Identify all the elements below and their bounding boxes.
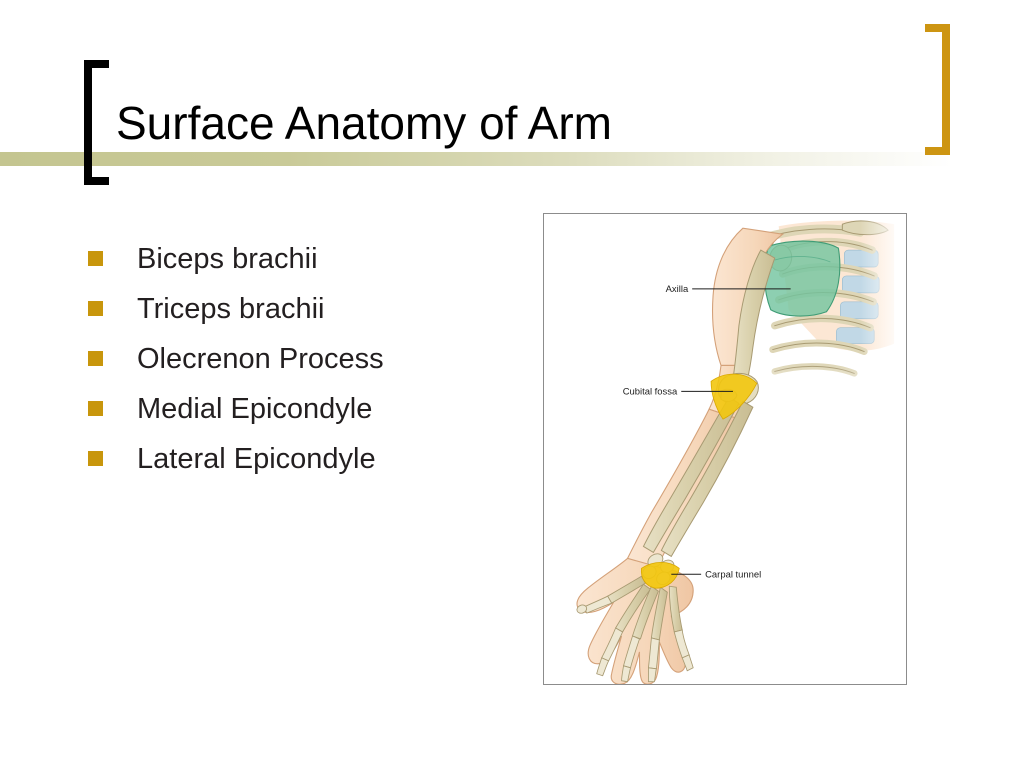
list-item-label: Olecrenon Process <box>137 340 384 379</box>
square-bullet-icon <box>88 301 103 316</box>
title-divider-line <box>0 152 1024 166</box>
list-item-label: Lateral Epicondyle <box>137 440 376 479</box>
square-bullet-icon <box>88 451 103 466</box>
list-item: Lateral Epicondyle <box>88 440 508 479</box>
left-bracket-decoration <box>84 60 109 185</box>
anatomy-figure: Axilla Cubital fossa Carpal tunnel <box>543 213 907 685</box>
list-item: Triceps brachii <box>88 290 508 329</box>
axilla-region-highlight <box>765 241 840 316</box>
arm-anatomy-illustration: Axilla Cubital fossa Carpal tunnel <box>544 214 906 684</box>
list-item: Medial Epicondyle <box>88 390 508 429</box>
square-bullet-icon <box>88 351 103 366</box>
list-item-label: Triceps brachii <box>137 290 324 329</box>
cubital-fossa-label: Cubital fossa <box>623 386 678 397</box>
slide-canvas: Surface Anatomy of Arm Biceps brachii Tr… <box>0 0 1024 768</box>
right-bracket-decoration <box>925 24 950 155</box>
carpal-tunnel-label: Carpal tunnel <box>705 569 761 580</box>
axilla-label: Axilla <box>666 284 689 295</box>
list-item: Biceps brachii <box>88 240 508 279</box>
square-bullet-icon <box>88 401 103 416</box>
list-item-label: Biceps brachii <box>137 240 318 279</box>
page-title: Surface Anatomy of Arm <box>116 96 612 150</box>
list-item-label: Medial Epicondyle <box>137 390 372 429</box>
bullet-list: Biceps brachii Triceps brachii Olecrenon… <box>88 240 508 490</box>
list-item: Olecrenon Process <box>88 340 508 379</box>
square-bullet-icon <box>88 251 103 266</box>
